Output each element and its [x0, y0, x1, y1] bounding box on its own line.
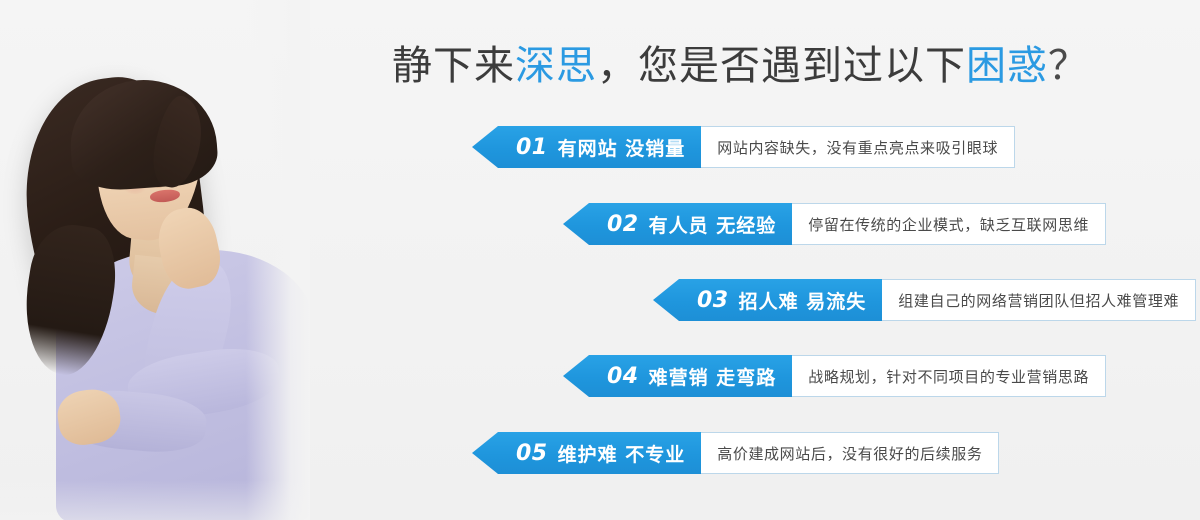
item-title: 维护难 不专业 — [558, 440, 686, 467]
list-item[interactable]: 01 有网站 没销量 网站内容缺失，没有重点亮点来吸引眼球 — [472, 126, 1015, 168]
item-tag[interactable]: 04 难营销 走弯路 — [563, 355, 792, 397]
item-number: 03 — [697, 288, 729, 313]
item-number: 02 — [607, 212, 639, 237]
item-title: 有人员 无经验 — [649, 211, 777, 238]
item-number: 05 — [516, 441, 548, 466]
item-description: 高价建成网站后，没有很好的后续服务 — [701, 432, 999, 474]
list-item[interactable]: 02 有人员 无经验 停留在传统的企业模式，缺乏互联网思维 — [563, 203, 1106, 245]
item-number: 01 — [516, 135, 548, 160]
item-description: 停留在传统的企业模式，缺乏互联网思维 — [792, 203, 1106, 245]
promo-banner: 静下来深思，您是否遇到过以下困惑？ 01 有网站 没销量 网站内容缺失，没有重点… — [0, 0, 1200, 520]
item-description: 网站内容缺失，没有重点亮点来吸引眼球 — [701, 126, 1015, 168]
item-tag[interactable]: 05 维护难 不专业 — [472, 432, 701, 474]
item-tag[interactable]: 01 有网站 没销量 — [472, 126, 701, 168]
item-number: 04 — [607, 364, 639, 389]
list-item[interactable]: 05 维护难 不专业 高价建成网站后，没有很好的后续服务 — [472, 432, 999, 474]
pain-point-list: 01 有网站 没销量 网站内容缺失，没有重点亮点来吸引眼球 02 有人员 无经验… — [0, 0, 1200, 520]
item-title: 招人难 易流失 — [739, 287, 867, 314]
list-item[interactable]: 03 招人难 易流失 组建自己的网络营销团队但招人难管理难 — [653, 279, 1196, 321]
item-tag[interactable]: 02 有人员 无经验 — [563, 203, 792, 245]
list-item[interactable]: 04 难营销 走弯路 战略规划，针对不同项目的专业营销思路 — [563, 355, 1106, 397]
item-title: 难营销 走弯路 — [649, 363, 777, 390]
item-tag[interactable]: 03 招人难 易流失 — [653, 279, 882, 321]
item-description: 战略规划，针对不同项目的专业营销思路 — [792, 355, 1106, 397]
item-title: 有网站 没销量 — [558, 134, 686, 161]
item-description: 组建自己的网络营销团队但招人难管理难 — [882, 279, 1196, 321]
